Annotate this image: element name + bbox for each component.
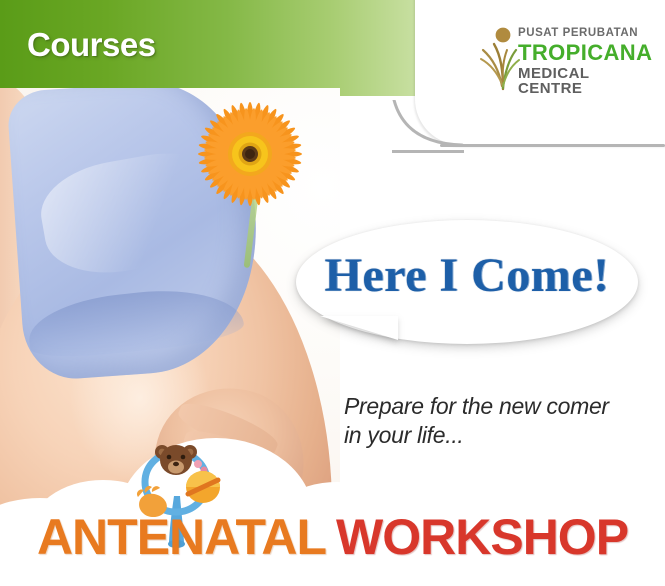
bottom-title-word-antenatal: ANTENATAL — [37, 509, 326, 565]
tagline-line-1: Prepare for the new comer — [344, 392, 644, 421]
page-title: Courses — [27, 26, 156, 64]
speech-bubble-tail — [304, 316, 398, 340]
header-divider-curve — [392, 100, 464, 153]
logo-wordmark: PUSAT PERUBATAN TROPICANA MEDICAL CENTRE — [518, 28, 658, 96]
logo-line-pusat-perubatan: PUSAT PERUBATAN — [518, 28, 658, 40]
poster-canvas: Courses PUSAT PERUBATAN TROPICANA MEDICA… — [0, 0, 665, 586]
header-divider-rule — [440, 144, 665, 147]
bottom-title-word-workshop: WORKSHOP — [336, 509, 628, 565]
speech-bubble-text: Here I Come! — [296, 248, 638, 303]
tropicana-logo[interactable]: PUSAT PERUBATAN TROPICANA MEDICAL CENTRE — [478, 26, 658, 92]
bottom-title: ANTENATALWORKSHOP — [0, 508, 665, 566]
orange-gerbera-flower-icon — [192, 96, 308, 214]
logo-line-tropicana: TROPICANA — [518, 42, 658, 64]
tropicana-plant-logo-icon — [478, 26, 522, 92]
logo-line-medical-centre: MEDICAL CENTRE — [518, 66, 658, 96]
